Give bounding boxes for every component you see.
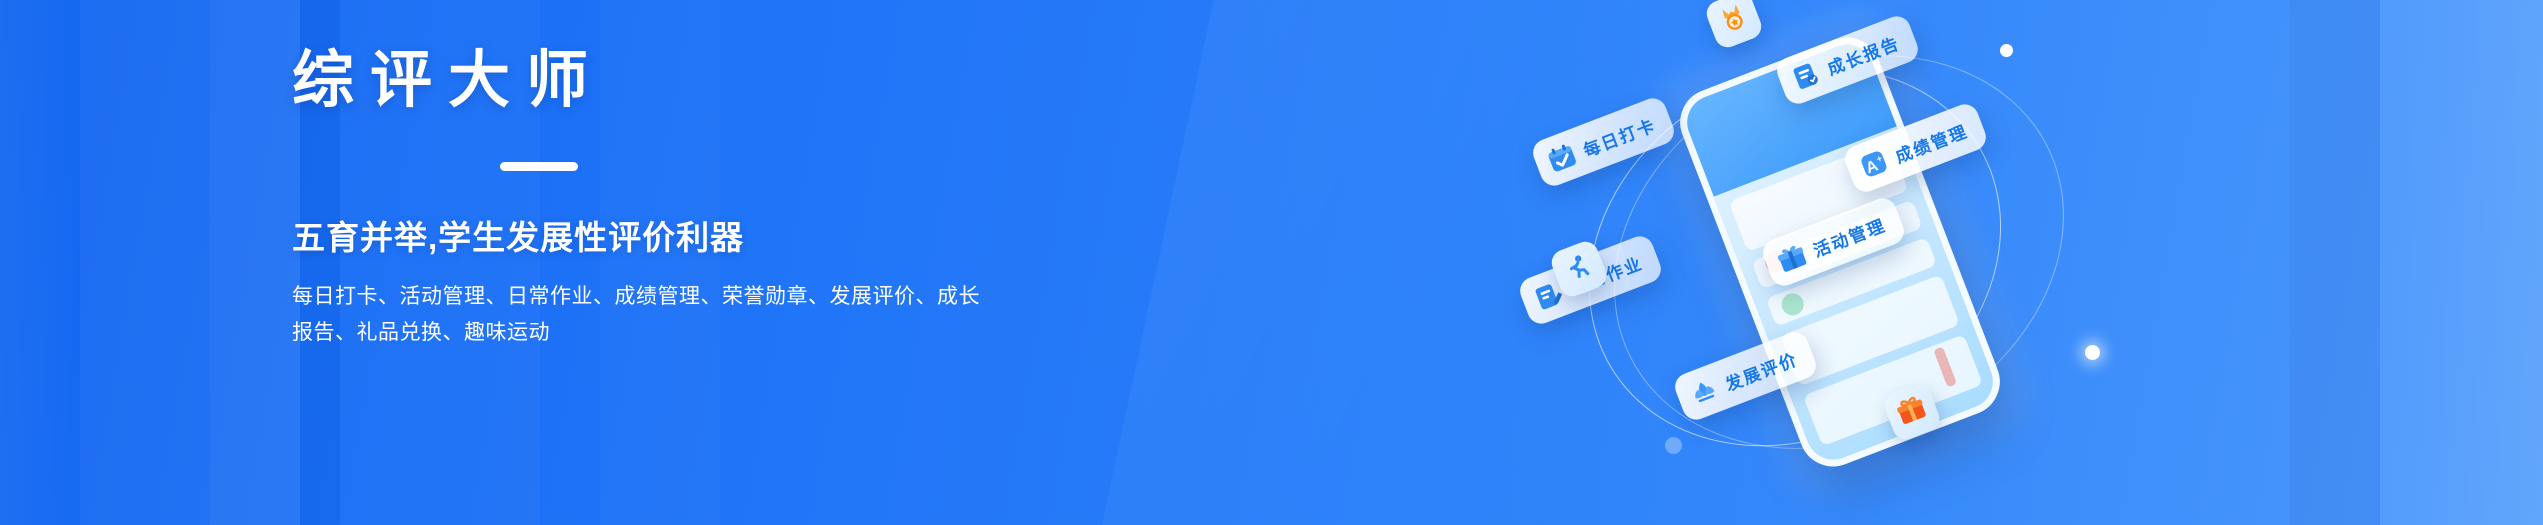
decorative-dot <box>1665 437 1682 454</box>
description-line-2: 报告、礼品兑换、趣味运动 <box>292 315 832 351</box>
promo-banner: 综评大师 五育并举,学生发展性评价利器 每日打卡、活动管理、日常作业、成绩管理、… <box>0 0 2543 525</box>
bg-band <box>80 0 210 525</box>
decorative-dot <box>2000 44 2013 57</box>
lotus-flower-icon <box>1686 374 1722 410</box>
floating-icon-honor-medal[interactable] <box>1703 0 1765 51</box>
banner-description: 每日打卡、活动管理、日常作业、成绩管理、荣誉勋章、发展评价、成长 报告、礼品兑换… <box>292 279 832 351</box>
bg-band <box>210 0 300 525</box>
medal-badge-icon <box>1714 0 1755 42</box>
gift-box-icon <box>1774 240 1810 276</box>
running-person-icon <box>1559 247 1600 290</box>
bg-band <box>2290 0 2380 525</box>
banner-copy: 综评大师 五育并举,学生发展性评价利器 每日打卡、活动管理、日常作业、成绩管理、… <box>292 42 1292 351</box>
banner-illustration: 每日打卡 成长报告 A+ 成绩管理 日常作业 <box>1545 0 2165 525</box>
banner-subtitle: 五育并举,学生发展性评价利器 <box>292 211 1292 259</box>
grade-a-plus-icon: A+ <box>1856 146 1892 182</box>
bg-band <box>0 0 80 525</box>
gift-present-icon <box>1892 390 1933 433</box>
description-line-1: 每日打卡、活动管理、日常作业、成绩管理、荣誉勋章、发展评价、成长 <box>292 279 832 315</box>
report-document-icon <box>1788 58 1824 94</box>
banner-title: 综评大师 <box>292 42 1292 120</box>
decorative-dot <box>2085 345 2100 360</box>
title-divider <box>500 162 578 171</box>
calendar-check-icon <box>1544 140 1580 176</box>
bg-band <box>2380 0 2543 525</box>
